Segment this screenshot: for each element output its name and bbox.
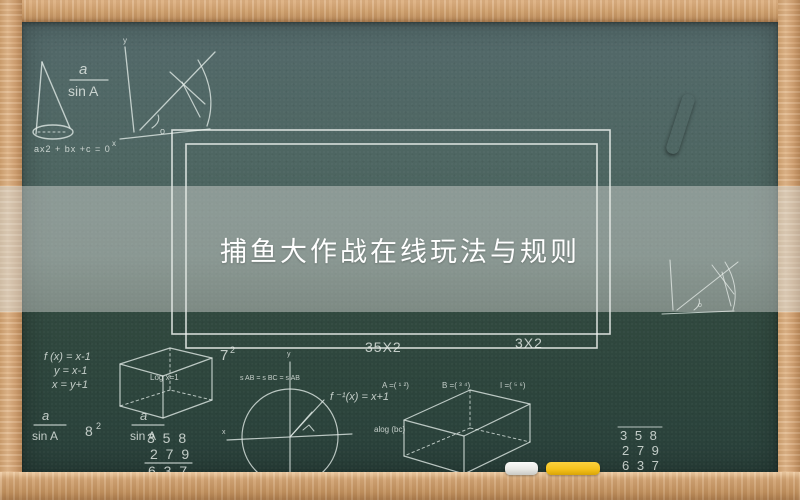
yellow-chalk-icon [546,462,600,475]
frame-top-rail [0,0,800,22]
white-chalk-icon [505,462,538,475]
page-title: 捕鱼大作战在线玩法与规则 [220,230,580,269]
blackboard-poster: a sin A y x o ax2 + bx +c = 0 [0,0,800,500]
chalk-ledge [0,472,800,500]
title-overlay-band: 捕鱼大作战在线玩法与规则 [0,186,800,312]
